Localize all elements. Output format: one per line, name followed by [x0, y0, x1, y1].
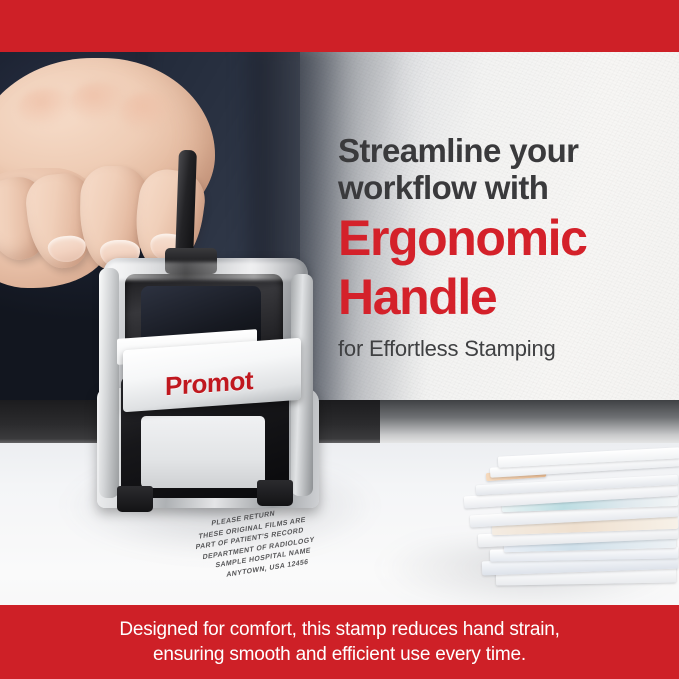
highlight-line-2: Handle: [338, 271, 668, 324]
stamp-foot-left: [117, 486, 153, 512]
top-red-bar: [0, 0, 679, 52]
subheadline: for Effortless Stamping: [338, 336, 668, 362]
headline-line-1: Streamline your: [338, 132, 668, 169]
footer-line-1: Designed for comfort, this stamp reduces…: [119, 619, 559, 640]
desk-edge-right: [380, 400, 679, 444]
stamp-base-window: [141, 416, 265, 488]
headline-line-2: workflow with: [338, 169, 668, 206]
knuckle: [120, 92, 176, 132]
stamp-foot-right: [257, 480, 293, 506]
marketing-copy: Streamline your workflow with Ergonomic …: [338, 132, 668, 362]
footer-line-2: ensuring smooth and efficient use every …: [119, 642, 559, 667]
stamp-handle-gloss: [107, 262, 303, 280]
paper-stack: [378, 440, 679, 610]
knuckle: [70, 82, 128, 122]
footer-text: Designed for comfort, this stamp reduces…: [97, 617, 581, 667]
stamp-press-tab: [175, 150, 197, 261]
knuckle: [18, 88, 76, 128]
bottom-red-banner: Designed for comfort, this stamp reduces…: [0, 605, 679, 679]
stamp-side-rail-left: [99, 268, 119, 498]
product-ad-card: Promot PLEASE RETURN THESE ORIGINAL FILM…: [0, 0, 679, 679]
self-inking-stamp: Promot: [95, 248, 340, 538]
highlight-line-1: Ergonomic: [338, 212, 668, 265]
